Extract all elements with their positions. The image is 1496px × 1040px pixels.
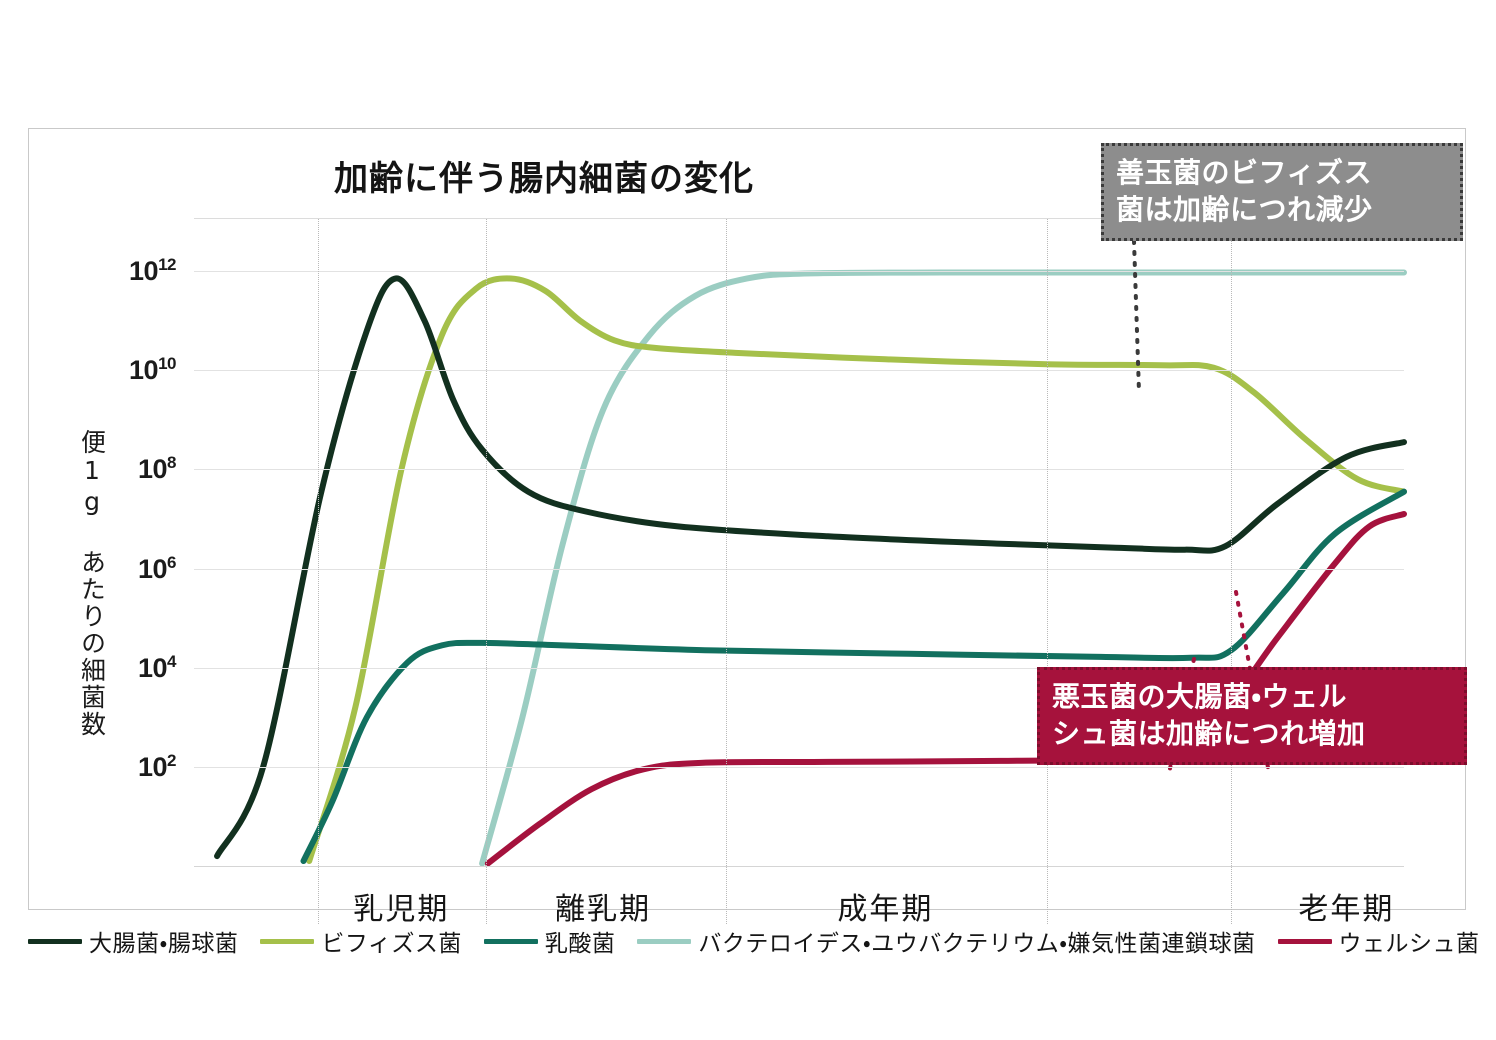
annotation-bad-bacteria: 悪玉菌の大腸菌・ウェル シュ菌は加齢につれ増加 <box>1037 667 1467 765</box>
legend-label: 乳酸菌 <box>545 924 616 958</box>
y-gridline <box>194 569 1404 570</box>
x-gridline <box>1047 219 1048 924</box>
legend-item-3[interactable]: 乳酸菌 <box>484 924 616 958</box>
y-tick-exponent: 4 <box>167 652 176 671</box>
legend-swatch-icon <box>1278 939 1332 944</box>
y-tick-exponent: 12 <box>158 255 176 274</box>
y-tick-label: 1010 <box>129 354 176 386</box>
annotation-bifidus: 善玉菌のビフィズス 菌は加齢につれ減少 <box>1101 143 1463 241</box>
y-tick-label: 1012 <box>129 255 176 287</box>
y-tick-label: 106 <box>138 553 176 585</box>
y-gridline <box>194 767 1404 768</box>
leader-lines <box>194 219 1404 866</box>
y-tick-exponent: 10 <box>158 354 176 373</box>
y-tick-exponent: 6 <box>167 553 176 572</box>
legend-label: 大腸菌・腸球菌 <box>89 924 238 958</box>
x-gridline <box>486 219 487 924</box>
legend-swatch-icon <box>260 939 314 944</box>
y-tick-label: 102 <box>138 751 176 783</box>
chart-page: 加齢に伴う腸内細菌の変化 便1g あたりの細菌数 101210101081061… <box>0 0 1496 1040</box>
chart-legend: 大腸菌・腸球菌ビフィズス菌乳酸菌バクテロイデス・ユウバクテリウム・嫌気性菌連鎖球… <box>28 918 1466 964</box>
legend-item-4[interactable]: バクテロイデス・ユウバクテリウム・嫌気性菌連鎖球菌 <box>637 924 1255 958</box>
legend-swatch-icon <box>484 939 538 944</box>
y-gridline <box>194 469 1404 470</box>
legend-item-2[interactable]: ビフィズス菌 <box>260 924 462 958</box>
legend-label: ウェルシュ菌 <box>1339 924 1480 958</box>
plot-area: 10121010108106104102乳児期離乳期成年期老年期 <box>194 219 1404 866</box>
legend-item-5[interactable]: ウェルシュ菌 <box>1278 924 1480 958</box>
x-gridline <box>1231 219 1232 924</box>
legend-item-1[interactable]: 大腸菌・腸球菌 <box>28 924 238 958</box>
x-gridline <box>318 219 319 924</box>
page-title: 加齢に伴う腸内細菌の変化 <box>29 151 1059 200</box>
legend-label: ビフィズス菌 <box>321 924 462 958</box>
x-gridline <box>726 219 727 924</box>
y-axis-title: 便1g あたりの細菌数 <box>77 429 107 738</box>
y-tick-exponent: 2 <box>167 751 176 770</box>
y-gridline <box>194 271 1404 272</box>
chart-card: 加齢に伴う腸内細菌の変化 便1g あたりの細菌数 101210101081061… <box>28 128 1466 910</box>
legend-swatch-icon <box>637 939 691 944</box>
x-axis-line <box>194 866 1404 867</box>
y-gridline <box>194 370 1404 371</box>
y-tick-label: 104 <box>138 652 176 684</box>
y-tick-exponent: 8 <box>167 453 176 472</box>
y-tick-label: 108 <box>138 453 176 485</box>
legend-label: バクテロイデス・ユウバクテリウム・嫌気性菌連鎖球菌 <box>698 924 1255 958</box>
legend-swatch-icon <box>28 939 82 944</box>
